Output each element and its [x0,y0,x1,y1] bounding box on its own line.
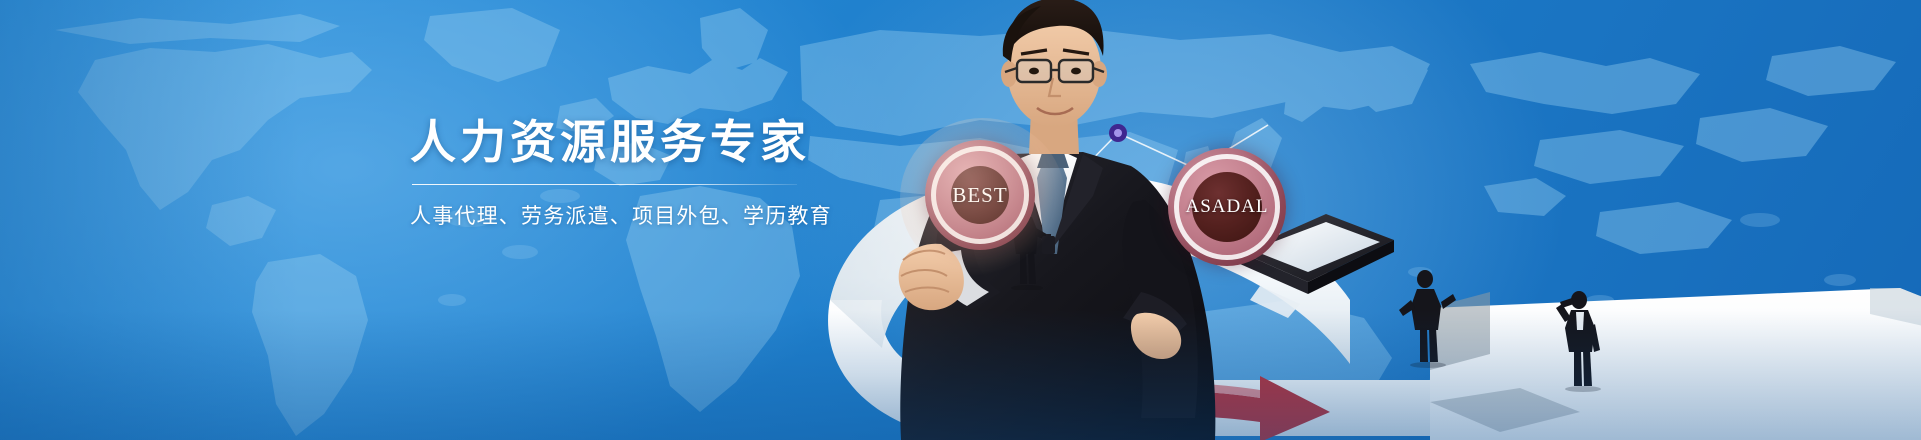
badge-best-label: BEST [952,183,1007,208]
bottom-shadow-overlay [0,310,1921,440]
badge-best: BEST [925,140,1035,250]
banner-headline: 人力资源服务专家 [410,118,830,167]
badge-asadal: ASADAL [1168,148,1286,266]
banner-subheadline: 人事代理、劳务派遣、项目外包、学历教育 [410,200,830,230]
hero-banner: BEST ASADAL 人力资源服务专家 人事代理、劳务派遣、项目外包、学历教育 [0,0,1921,440]
banner-copy-block: 人力资源服务专家 人事代理、劳务派遣、项目外包、学历教育 [410,118,830,230]
headline-divider-rule [412,184,797,185]
badge-asadal-label: ASADAL [1185,196,1268,218]
